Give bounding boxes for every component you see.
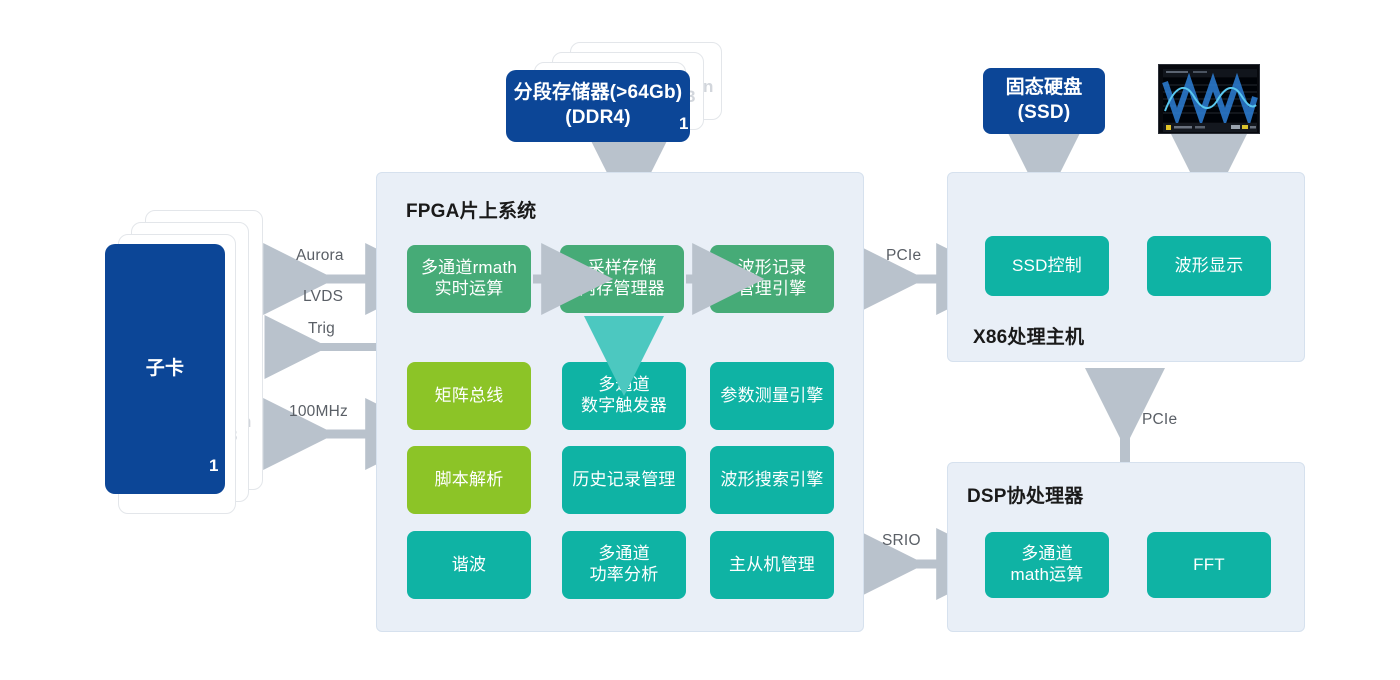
dsp-panel-title: DSP协处理器 xyxy=(967,481,1083,508)
ssd-label-line2: (SSD) xyxy=(1018,101,1071,126)
fpga-block-sample-memory-manager[interactable]: 采样存储 内存管理器 xyxy=(560,245,684,313)
memory-number: 1 xyxy=(679,115,688,132)
fpga-block-multichannel-rmath[interactable]: 多通道rmath 实时运算 xyxy=(407,245,531,313)
x86-block-ssd-control[interactable]: SSD控制 xyxy=(985,236,1109,296)
label-pcie-fpga-x86: PCIe xyxy=(886,247,921,265)
ssd-label-line1: 固态硬盘 xyxy=(1006,76,1083,101)
fpga-block-master-slave-manager[interactable]: 主从机管理 xyxy=(710,531,834,599)
fpga-block-harmonics[interactable]: 谐波 xyxy=(407,531,531,599)
label-100mhz: 100MHz xyxy=(289,403,348,421)
fpga-block-history-record-manager[interactable]: 历史记录管理 xyxy=(562,446,686,514)
label-aurora: Aurora xyxy=(296,247,344,265)
label-trig: Trig xyxy=(308,320,335,338)
fpga-panel-title: FPGA片上系统 xyxy=(406,196,536,223)
dsp-block-multichannel-math[interactable]: 多通道 math运算 xyxy=(985,532,1109,598)
memory-ghost-n-number: n xyxy=(703,78,713,95)
fpga-block-parameter-measure-engine[interactable]: 参数测量引擎 xyxy=(710,362,834,430)
daughter-card-label: 子卡 xyxy=(146,357,184,380)
fpga-block-multichannel-power-analysis[interactable]: 多通道 功率分析 xyxy=(562,531,686,599)
fpga-block-waveform-record-engine[interactable]: 波形记录 管理引擎 xyxy=(710,245,834,313)
label-srio: SRIO xyxy=(882,532,921,550)
dsp-block-fft[interactable]: FFT xyxy=(1147,532,1271,598)
fpga-block-script-parser[interactable]: 脚本解析 xyxy=(407,446,531,514)
daughter-card-block[interactable]: 子卡 xyxy=(105,244,225,494)
daughter-card-number: 1 xyxy=(209,457,218,474)
scope-waveform-graphic xyxy=(1159,65,1260,134)
segmented-memory-block[interactable]: 分段存储器(>64Gb) (DDR4) xyxy=(506,70,690,142)
oscilloscope-display-thumbnail xyxy=(1158,64,1260,134)
label-pcie-dsp-x86: PCIe xyxy=(1142,411,1177,429)
fpga-block-waveform-search-engine[interactable]: 波形搜索引擎 xyxy=(710,446,834,514)
label-lvds: LVDS xyxy=(303,288,343,306)
fpga-block-matrix-bus[interactable]: 矩阵总线 xyxy=(407,362,531,430)
fpga-block-multichannel-digital-trigger[interactable]: 多通道 数字触发器 xyxy=(562,362,686,430)
x86-block-waveform-display[interactable]: 波形显示 xyxy=(1147,236,1271,296)
x86-panel-title: X86处理主机 xyxy=(973,322,1084,349)
memory-label-line2: (DDR4) xyxy=(565,106,631,131)
memory-label-line1: 分段存储器(>64Gb) xyxy=(514,81,683,106)
ssd-block[interactable]: 固态硬盘 (SSD) xyxy=(983,68,1105,134)
diagram-canvas: n 3 2 子卡 1 Aurora LVDS Trig 100MHz n 3 2… xyxy=(0,0,1400,680)
